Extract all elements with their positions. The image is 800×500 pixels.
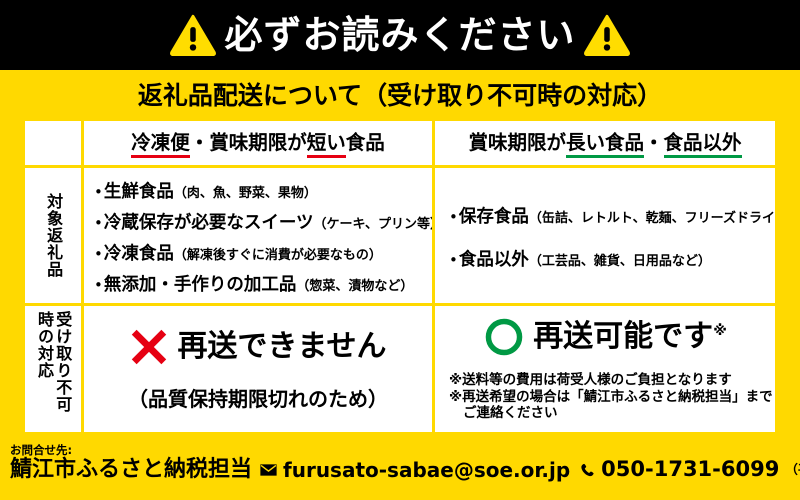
bullet-dot-icon: • [94,185,103,200]
result-resend-head: 再送可能です※ [483,316,727,358]
header-banner: 必ずお読みください [0,0,800,70]
subtitle-banner: 返礼品配送について（受け取り不可時の対応） [0,70,800,118]
list-item: • 冷蔵保存が必要なスイーツ （ケーキ、プリン等） [94,209,426,234]
header-left-part3: 短い [307,131,346,158]
warning-triangle-icon [584,14,630,56]
list-item-main: 保存食品 [459,203,529,228]
header-right-part4: 食品以外 [664,131,742,158]
bullet-dot-icon: • [94,278,103,293]
list-item-main: 冷蔵保存が必要なスイーツ [104,209,314,234]
circle-mark-icon [483,316,525,358]
result-no-resend: 再送できません （品質保持期限切れのため） [84,306,432,432]
subtitle-text: 返礼品配送について（受け取り不可時の対応） [138,76,662,112]
list-item-sub: （缶詰、レトルト、乾麺、フリーズドライ） [529,207,775,226]
result-no-resend-head: 再送できません [129,327,386,367]
list-item: • 生鮮食品 （肉、魚、野菜、果物） [94,178,426,203]
row-label-target-items: 対象返礼品 [25,168,81,303]
header-left-part4: 食品 [346,131,385,154]
row-label-target-items-text: 対象返礼品 [44,193,62,278]
list-item-main: 食品以外 [459,246,529,271]
header-cell-blank [25,121,81,165]
table-header-row: 冷凍便・賞味期限が短い食品 賞味期限が長い食品・食品以外 [25,121,775,165]
table-row-undeliverable-response: 受け取り不可時の対応 再送できません （品質保持期限切れのため） [25,306,775,432]
bullet-list-right: • 保存食品 （缶詰、レトルト、乾麺、フリーズドライ） • 食品以外 （工芸品、… [435,168,775,303]
envelope-icon [260,464,277,476]
header-cell-short-shelf-life: 冷凍便・賞味期限が短い食品 [84,121,432,165]
header-cell-long-shelf-life: 賞味期限が長い食品・食品以外 [435,121,775,165]
list-item: • 保存食品 （缶詰、レトルト、乾麺、フリーズドライ） [449,203,769,228]
header-left-text: 冷凍便・賞味期限が短い食品 [131,133,385,153]
row-label-undeliverable-part1: 受け取り [53,311,72,379]
resend-note-3: ご連絡ください [449,405,767,422]
resend-note-1: ※送料等の費用は荷受人様のご負担となります [449,372,767,389]
header-right-text: 賞味期限が長い食品・食品以外 [468,133,741,153]
resend-note-3-text: ご連絡ください [449,405,558,422]
table-row-target-items: 対象返礼品 • 生鮮食品 （肉、魚、野菜、果物） • 冷蔵保存が必要なスイーツ … [25,168,775,303]
bullet-list-left: • 生鮮食品 （肉、魚、野菜、果物） • 冷蔵保存が必要なスイーツ （ケーキ、プ… [84,168,432,303]
list-item-main: 無添加・手作りの加工品 [104,271,297,296]
result-no-resend-subtitle: （品質保持期限切れのため） [128,383,388,412]
list-item: • 無添加・手作りの加工品 （惣菜、漬物など） [94,271,426,296]
contact-hours: （平日10:00-17:00対応） [785,464,800,477]
result-no-resend-title: 再送できません [177,332,386,362]
list-item-sub: （惣菜、漬物など） [296,275,413,294]
list-item-sub: （解凍後すぐに消費が必要なもの） [174,244,382,263]
result-resend-title: 再送可能です※ [533,322,727,352]
notice-poster: 必ずお読みください 返礼品配送について（受け取り不可時の対応） 冷凍便・賞味期限… [0,0,800,500]
list-item-main: 冷凍食品 [104,240,174,265]
resend-notes: ※送料等の費用は荷受人様のご負担となります ※再送希望の場合は「鯖江市ふるさと納… [443,372,767,423]
header-left-part2: ・賞味期限が [190,131,307,154]
list-item-main: 生鮮食品 [104,178,174,203]
resend-note-2: ※再送希望の場合は「鯖江市ふるさと納税担当」まで [449,389,767,406]
comparison-table: 冷凍便・賞味期限が短い食品 賞味期限が長い食品・食品以外 対象返礼品 • 生鮮食… [22,118,778,436]
cell-target-items-left: • 生鮮食品 （肉、魚、野菜、果物） • 冷蔵保存が必要なスイーツ （ケーキ、プ… [84,168,432,303]
cell-target-items-right: • 保存食品 （缶詰、レトルト、乾麺、フリーズドライ） • 食品以外 （工芸品、… [435,168,775,303]
cross-mark-icon [129,327,169,367]
header-left-part1: 冷凍便 [131,131,190,158]
list-item: • 冷凍食品 （解凍後すぐに消費が必要なもの） [94,240,426,265]
header-right-part1: 賞味期限が [468,131,566,154]
cell-response-right: 再送可能です※ ※送料等の費用は荷受人様のご負担となります ※再送希望の場合は「… [435,306,775,432]
footer-contact: お問合せ先: 鯖江市ふるさと納税担当 furusato-sabae@soe.or… [0,440,800,500]
bullet-dot-icon: • [94,247,103,262]
row-label-undeliverable-response: 受け取り不可時の対応 [25,306,81,432]
contact-email[interactable]: furusato-sabae@soe.or.jp [283,460,570,480]
list-item: • 食品以外 （工芸品、雑貨、日用品など） [449,246,769,271]
bullet-dot-icon: • [449,253,458,268]
list-item-sub: （肉、魚、野菜、果物） [174,182,317,201]
result-resend-title-text: 再送可能です [533,319,713,354]
warning-triangle-icon [170,14,216,56]
header-right-part3: ・ [644,131,664,154]
contact-label: お問合せ先: [10,444,790,458]
cell-response-left: 再送できません （品質保持期限切れのため） [84,306,432,432]
bullet-dot-icon: • [94,216,103,231]
contact-line: 鯖江市ふるさと納税担当 furusato-sabae@soe.or.jp 050… [10,459,790,481]
contact-phone[interactable]: 050-1731-6099 [601,459,779,480]
row-label-undeliverable-text: 受け取り不可時の対応 [35,311,71,427]
contact-organization: 鯖江市ふるさと納税担当 [10,459,252,481]
list-item-sub: （ケーキ、プリン等） [314,213,432,232]
result-resend-possible: 再送可能です※ ※送料等の費用は荷受人様のご負担となります ※再送希望の場合は「… [435,306,775,432]
page-title: 必ずお読みください [224,16,575,54]
result-resend-asterisk: ※ [713,323,727,339]
bullet-dot-icon: • [449,210,458,225]
phone-icon [580,462,595,478]
header-right-part2: 長い食品 [566,131,644,158]
list-item-sub: （工芸品、雑貨、日用品など） [529,250,711,269]
